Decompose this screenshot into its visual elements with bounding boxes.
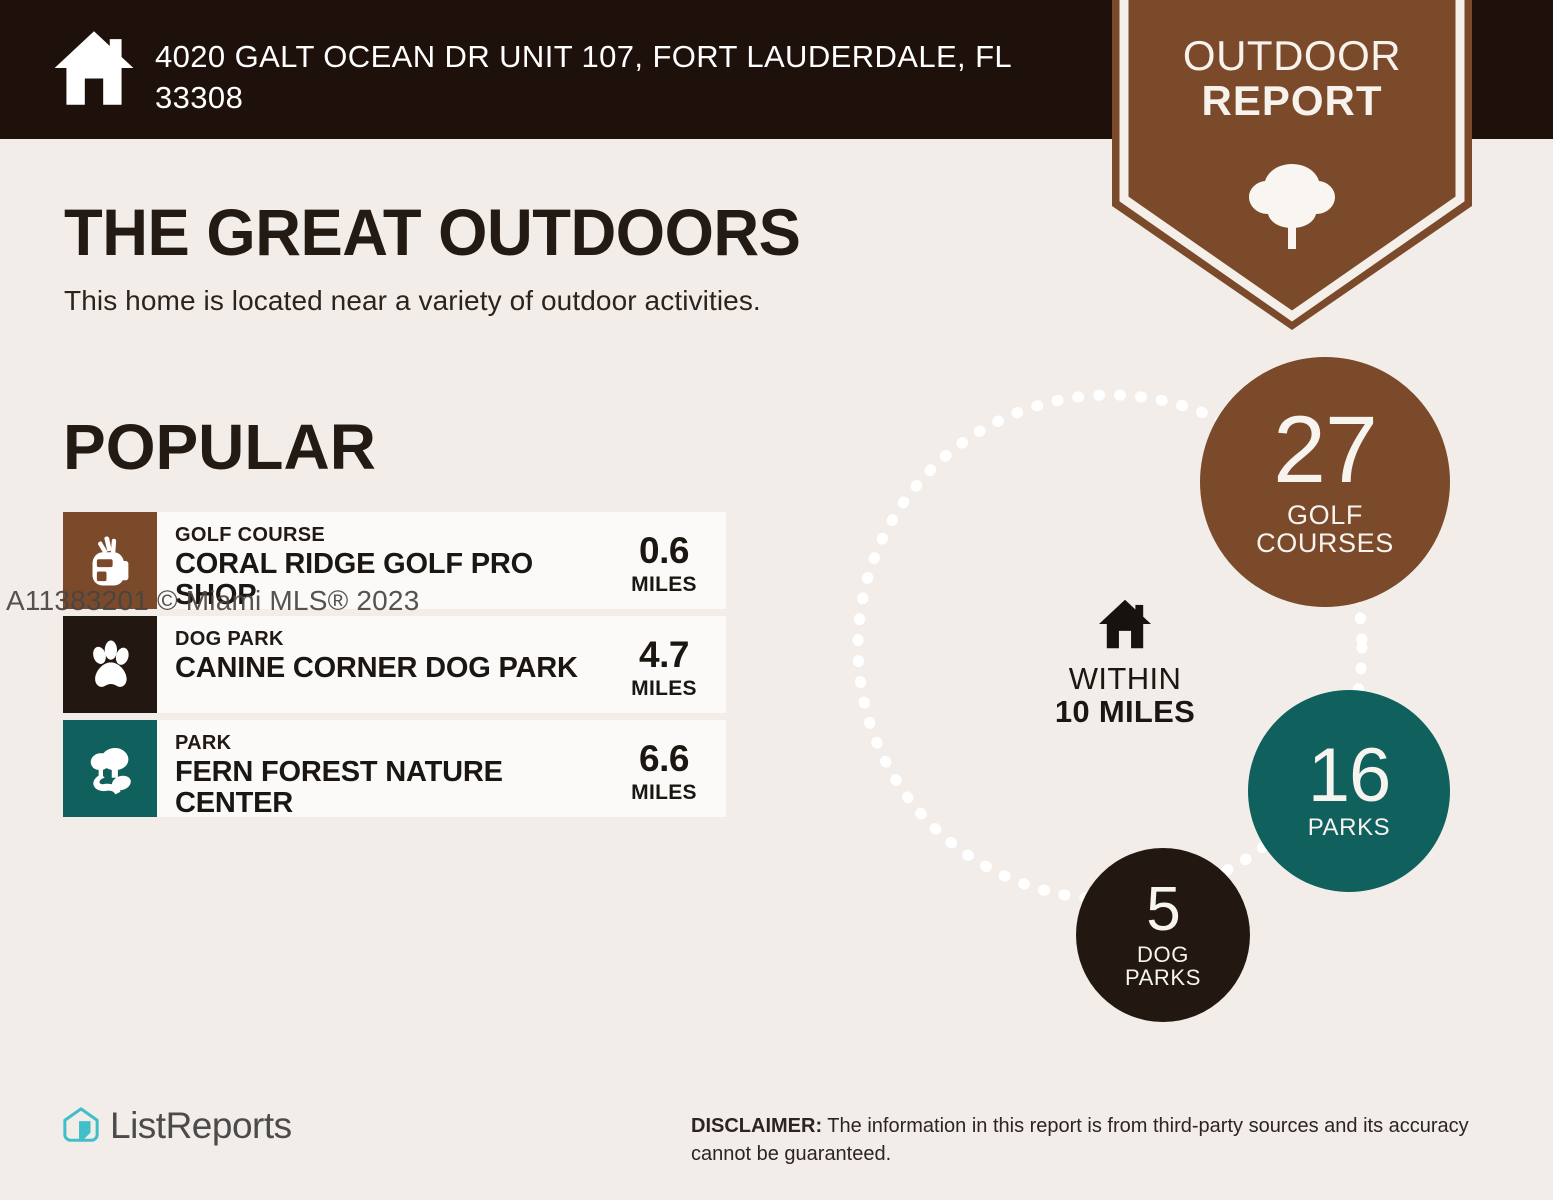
stat-circle-dog-parks[interactable]: 5 DOG PARKS [1076, 848, 1250, 1022]
poi-text: DOG PARK CANINE CORNER DOG PARK [157, 616, 618, 713]
poi-category: GOLF COURSE [175, 524, 618, 546]
home-icon [1096, 598, 1154, 650]
poi-distance-value: 6.6 [618, 740, 710, 777]
poi-icon-tile [63, 720, 157, 817]
amenities-diagram: WITHIN 10 MILES 27 GOLF COURSES 16 PARKS… [830, 355, 1490, 1035]
poi-category: PARK [175, 732, 618, 754]
poi-distance-unit: MILES [618, 573, 710, 597]
park-tree-icon [82, 741, 138, 797]
stat-circle-parks[interactable]: 16 PARKS [1248, 690, 1450, 892]
poi-name: FERN FOREST NATURE CENTER [175, 757, 618, 817]
paw-print-icon [82, 637, 138, 693]
badge-line-1: OUTDOOR [1112, 34, 1472, 79]
golf-bag-icon [82, 533, 138, 589]
disclaimer-label: DISCLAIMER: [691, 1115, 822, 1137]
listreports-logo-text: ListReports [110, 1105, 292, 1147]
home-icon [52, 28, 136, 108]
poi-name: CANINE CORNER DOG PARK [175, 653, 618, 684]
mls-watermark: A11383201 © Miami MLS® 2023 [6, 585, 419, 617]
page-title: THE GREAT OUTDOORS [64, 194, 800, 270]
stat-label-line-2: COURSES [1256, 529, 1394, 557]
badge-title: OUTDOOR REPORT [1112, 34, 1472, 124]
poi-distance-unit: MILES [618, 781, 710, 805]
within-line-2: 10 MILES [1020, 695, 1230, 730]
stat-value: 5 [1146, 881, 1179, 938]
listreports-house-tag-icon [62, 1106, 100, 1146]
outdoor-report-page: 4020 GALT OCEAN DR UNIT 107, FORT LAUDER… [0, 0, 1553, 1200]
poi-distance: 0.6 MILES [618, 512, 726, 609]
stat-label: PARKS [1308, 816, 1391, 841]
poi-distance-unit: MILES [618, 677, 710, 701]
stat-label: GOLF COURSES [1256, 501, 1394, 557]
page-subtitle: This home is located near a variety of o… [64, 285, 761, 317]
stat-value: 27 [1273, 407, 1377, 494]
list-item[interactable]: PARK FERN FOREST NATURE CENTER 6.6 MILES [63, 720, 726, 817]
stat-value: 16 [1308, 741, 1391, 811]
poi-distance: 6.6 MILES [618, 720, 726, 817]
poi-icon-tile [63, 616, 157, 713]
popular-heading: POPULAR [63, 410, 376, 484]
poi-category: DOG PARK [175, 628, 618, 650]
poi-distance: 4.7 MILES [618, 616, 726, 713]
stat-circle-golf-courses[interactable]: 27 GOLF COURSES [1200, 357, 1450, 607]
stat-label-line-1: DOG [1125, 944, 1201, 967]
popular-list: GOLF COURSE CORAL RIDGE GOLF PRO SHOP 0.… [63, 512, 726, 824]
outdoor-report-badge: OUTDOOR REPORT [1112, 0, 1472, 330]
within-radius-label: WITHIN 10 MILES [1020, 598, 1230, 730]
stat-label-line-1: PARKS [1308, 816, 1391, 841]
listreports-logo[interactable]: ListReports [62, 1105, 292, 1147]
poi-text: PARK FERN FOREST NATURE CENTER [157, 720, 618, 817]
poi-distance-value: 0.6 [618, 532, 710, 569]
stat-label-line-1: GOLF [1256, 501, 1394, 529]
badge-line-2: REPORT [1112, 79, 1472, 124]
stat-label-line-2: PARKS [1125, 967, 1201, 990]
disclaimer: DISCLAIMER: The information in this repo… [691, 1112, 1491, 1169]
stat-label: DOG PARKS [1125, 944, 1201, 990]
poi-distance-value: 4.7 [618, 636, 710, 673]
property-address: 4020 GALT OCEAN DR UNIT 107, FORT LAUDER… [155, 36, 1055, 118]
list-item[interactable]: DOG PARK CANINE CORNER DOG PARK 4.7 MILE… [63, 616, 726, 713]
within-line-1: WITHIN [1020, 662, 1230, 695]
